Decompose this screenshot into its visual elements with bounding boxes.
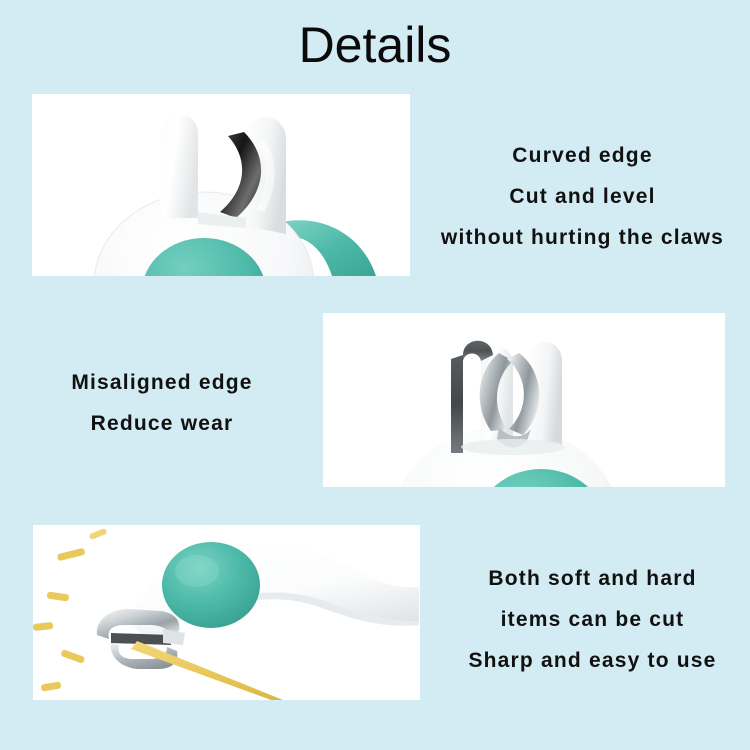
clipper-head-closeup-image [32,94,410,276]
caption-line: Curved edge [415,135,750,176]
caption-misaligned-edge: Misaligned edge Reduce wear [12,362,312,444]
clipper-head-side-angle-image [323,313,725,487]
clipper-head-closeup-graphic [32,94,410,276]
page-title: Details [0,14,750,76]
caption-curved-edge: Curved edge Cut and level without hurtin… [415,135,750,258]
product-photo-panel-misaligned-edge [323,313,725,487]
caption-line: Sharp and easy to use [435,640,750,681]
clipper-head-side-angle-graphic [323,313,725,487]
clipper-cutting-noodle-graphic [33,525,420,700]
clipper-cutting-noodle-image [33,525,420,700]
caption-line: Cut and level [415,176,750,217]
caption-line: without hurting the claws [415,217,750,258]
details-page: Details [0,0,750,750]
caption-line: Both soft and hard [435,558,750,599]
caption-line: Reduce wear [12,403,312,444]
caption-soft-and-hard: Both soft and hard items can be cut Shar… [435,558,750,681]
product-photo-panel-curved-edge [32,94,410,276]
product-photo-panel-cutting-demo [33,525,420,700]
caption-line: items can be cut [435,599,750,640]
caption-line: Misaligned edge [12,362,312,403]
